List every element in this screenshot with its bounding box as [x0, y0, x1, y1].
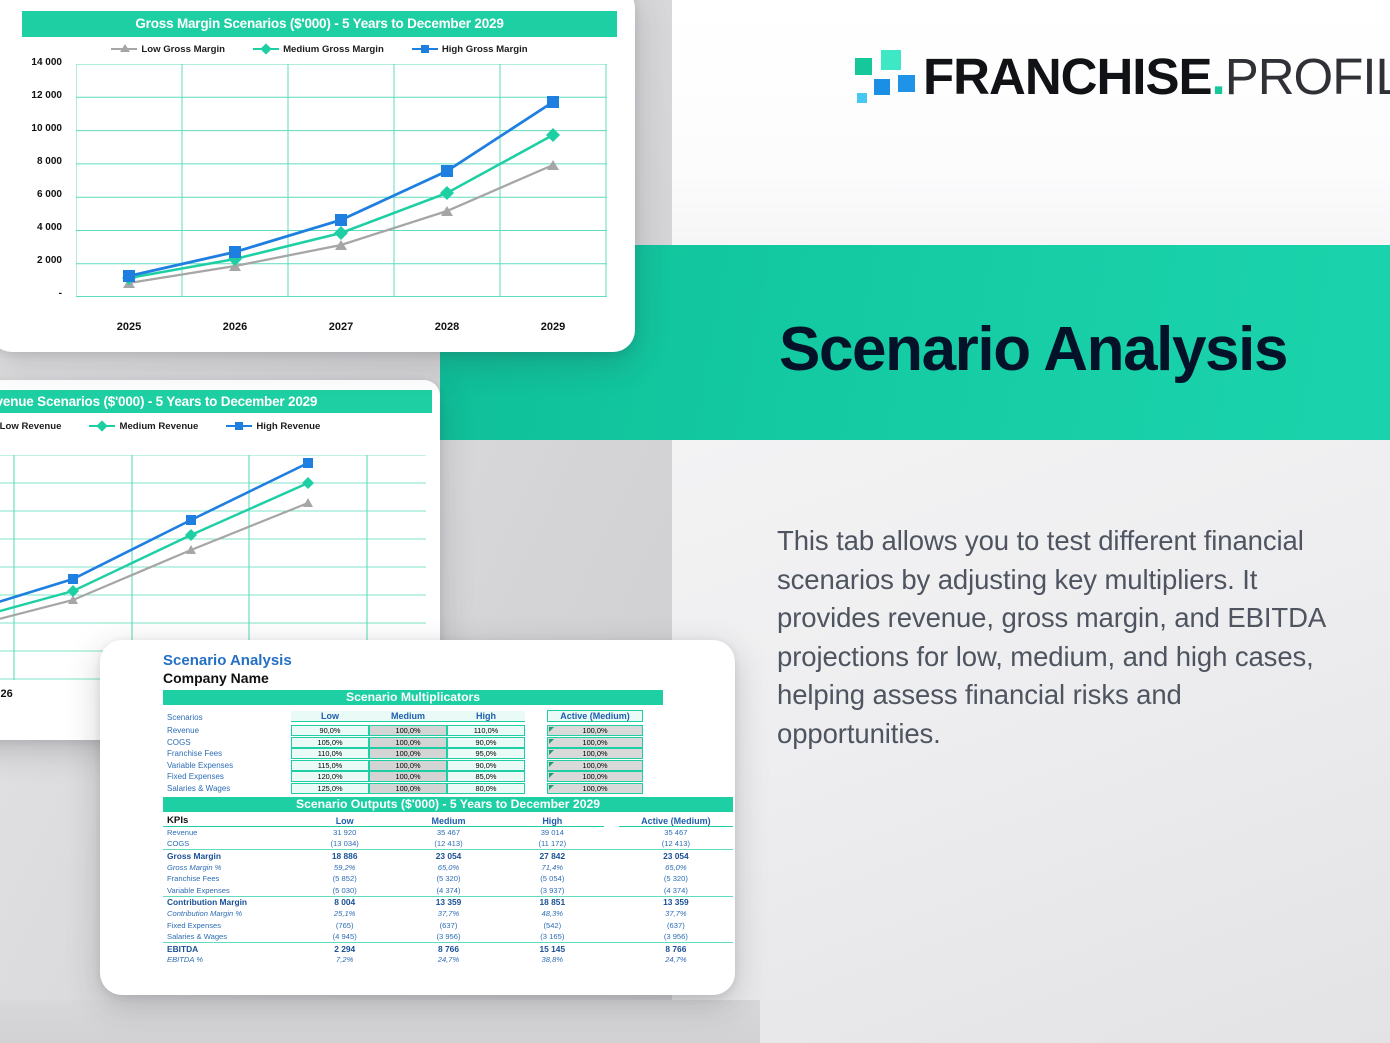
outputs-row-label: Revenue — [163, 827, 293, 839]
gross-margin-chart-plot — [76, 64, 607, 297]
outputs-cell-low: 18 886 — [293, 850, 397, 862]
multiplicator-row-label: Revenue — [163, 726, 291, 735]
table-row: Contribution Margin %25,1%37,7%48,3%37,7… — [163, 908, 733, 920]
logo-dot: . — [1212, 48, 1225, 105]
outputs-cell-medium: 13 359 — [397, 896, 501, 908]
outputs-cell-medium: 35 467 — [397, 827, 501, 839]
multiplicators-col-medium: Medium — [369, 711, 447, 722]
logo-wordmark: FRANCHISE.PROFILES — [923, 44, 1390, 110]
multiplicator-row-label: Variable Expenses — [163, 761, 291, 770]
revenue-xtick-2026: 2026 — [0, 688, 23, 700]
outputs-cell-low: 25,1% — [293, 908, 397, 920]
sheet-subtitle: Company Name — [163, 670, 292, 686]
outputs-cell-active: 65,0% — [619, 861, 733, 873]
multiplicator-row-label: Fixed Expenses — [163, 772, 291, 781]
outputs-row-label: EBITDA % — [163, 954, 293, 966]
outputs-cell-high: 38,8% — [500, 954, 604, 966]
legend-item-high-revenue[interactable]: High Revenue — [226, 421, 320, 432]
medium-revenue-marker-icon — [89, 425, 115, 427]
logo-square-teal-large — [853, 56, 874, 77]
outputs-cell-low: (765) — [293, 919, 397, 931]
outputs-cell-high: 48,3% — [500, 908, 604, 920]
outputs-cell-medium: (5 320) — [397, 873, 501, 885]
multiplicator-cell-medium[interactable]: 100,0% — [369, 760, 447, 771]
outputs-cell-active: 35 467 — [619, 827, 733, 839]
scenario-multiplicators-table: Scenarios Low Medium High Active (Medium… — [163, 707, 663, 794]
legend-item-low-gross-margin[interactable]: Low Gross Margin — [111, 44, 225, 55]
gross-margin-chart-legend: Low Gross Margin Medium Gross Margin Hig… — [22, 40, 617, 58]
outputs-cell-active: (637) — [619, 919, 733, 931]
table-row: EBITDA2 2948 76615 1458 766 — [163, 943, 733, 955]
high-revenue-marker-icon — [226, 425, 252, 427]
outputs-col-high: High — [500, 815, 604, 827]
outputs-cell-low: 31 920 — [293, 827, 397, 839]
outputs-cell-active: (12 413) — [619, 838, 733, 850]
ytick-6000: 6 000 — [0, 189, 62, 200]
legend-label: Low Gross Margin — [141, 44, 225, 55]
table-row: EBITDA %7,2%24,7%38,8%24,7% — [163, 954, 733, 966]
sheet-title: Scenario Analysis — [163, 652, 292, 669]
multiplicator-cell-medium[interactable]: 100,0% — [369, 771, 447, 782]
table-row: Salaries & Wages(4 945)(3 956)(3 165)(3 … — [163, 931, 733, 943]
multiplicator-cell-high[interactable]: 110,0% — [447, 725, 525, 736]
outputs-row-label: Gross Margin % — [163, 861, 293, 873]
multiplicator-row: Franchise Fees110,0%100,0%95,0%100,0% — [163, 748, 663, 760]
legend-item-low-revenue[interactable]: Low Revenue — [0, 421, 61, 432]
multiplicators-col-active: Active (Medium) — [547, 710, 643, 722]
table-row: Contribution Margin8 00413 35918 85113 3… — [163, 896, 733, 908]
outputs-cell-low: (4 945) — [293, 931, 397, 943]
outputs-row-label: EBITDA — [163, 943, 293, 955]
legend-item-medium-revenue[interactable]: Medium Revenue — [89, 421, 198, 432]
legend-label: High Revenue — [256, 421, 320, 432]
scenario-outputs-band: Scenario Outputs ($'000) - 5 Years to De… — [163, 797, 733, 812]
background-white-strip — [672, 0, 1390, 245]
outputs-cell-low: 8 004 — [293, 896, 397, 908]
multiplicators-col-low: Low — [291, 711, 369, 722]
outputs-cell-medium: (637) — [397, 919, 501, 931]
multiplicator-cell-medium[interactable]: 100,0% — [369, 737, 447, 748]
legend-label: High Gross Margin — [442, 44, 528, 55]
outputs-row-label: Contribution Margin — [163, 896, 293, 908]
outputs-cell-active: 23 054 — [619, 850, 733, 862]
gross-xtick-2027: 2027 — [318, 321, 364, 333]
table-row: Gross Margin %59,2%65,0%71,4%65,0% — [163, 861, 733, 873]
low-gross-margin-marker-icon — [111, 48, 137, 50]
outputs-cell-high: 39 014 — [500, 827, 604, 839]
multiplicator-cell-low[interactable]: 125,0% — [291, 783, 369, 794]
multiplicator-row: COGS105,0%100,0%90,0%100,0% — [163, 737, 663, 749]
outputs-cell-medium: (4 374) — [397, 885, 501, 897]
outputs-cell-medium: (3 956) — [397, 931, 501, 943]
table-row: Franchise Fees(5 852)(5 320)(5 054)(5 32… — [163, 873, 733, 885]
hero-description: This tab allows you to test different fi… — [777, 522, 1337, 753]
ytick-10000: 10 000 — [0, 123, 62, 134]
multiplicator-cell-low[interactable]: 90,0% — [291, 725, 369, 736]
outputs-row-label: Fixed Expenses — [163, 919, 293, 931]
table-row: Revenue31 92035 46739 01435 467 — [163, 827, 733, 839]
legend-item-medium-gross-margin[interactable]: Medium Gross Margin — [253, 44, 384, 55]
multiplicator-row: Salaries & Wages125,0%100,0%80,0%100,0% — [163, 783, 663, 795]
legend-label: Low Revenue — [0, 421, 61, 432]
outputs-cell-high: 71,4% — [500, 861, 604, 873]
multiplicator-row: Fixed Expenses120,0%100,0%85,0%100,0% — [163, 771, 663, 783]
outputs-row-label: Contribution Margin % — [163, 908, 293, 920]
outputs-cell-active: 37,7% — [619, 908, 733, 920]
outputs-row-label: COGS — [163, 838, 293, 850]
outputs-col-active: Active (Medium) — [619, 815, 733, 827]
outputs-header-row: KPIs Low Medium High Active (Medium) — [163, 815, 733, 827]
ytick-4000: 4 000 — [0, 222, 62, 233]
outputs-cell-high: (11 172) — [500, 838, 604, 850]
multiplicator-cell-medium[interactable]: 100,0% — [369, 783, 447, 794]
multiplicator-cell-low[interactable]: 110,0% — [291, 748, 369, 759]
gross-xtick-2025: 2025 — [106, 321, 152, 333]
logo-squares-icon — [851, 48, 907, 106]
outputs-col-kpis: KPIs — [163, 815, 293, 827]
outputs-cell-low: 7,2% — [293, 954, 397, 966]
multiplicator-cell-high[interactable]: 85,0% — [447, 771, 525, 782]
multiplicator-row-label: COGS — [163, 738, 291, 747]
outputs-cell-low: 59,2% — [293, 861, 397, 873]
logo-square-blue-mid — [872, 77, 892, 97]
gross-margin-chart-title: Gross Margin Scenarios ($'000) - 5 Years… — [22, 11, 617, 37]
outputs-col-low: Low — [293, 815, 397, 827]
multiplicator-cell-high[interactable]: 90,0% — [447, 737, 525, 748]
outputs-cell-high: 18 851 — [500, 896, 604, 908]
outputs-cell-low: (5 030) — [293, 885, 397, 897]
scenario-analysis-sheet-card: Scenario Analysis Company Name Go to the… — [100, 640, 735, 995]
scenario-outputs-table: KPIs Low Medium High Active (Medium) Rev… — [163, 815, 733, 966]
multiplicator-cell-medium[interactable]: 100,0% — [369, 748, 447, 759]
outputs-cell-medium: 65,0% — [397, 861, 501, 873]
logo-square-cyan-small — [855, 91, 869, 105]
gross-xtick-2026: 2026 — [212, 321, 258, 333]
outputs-cell-high: 15 145 — [500, 943, 604, 955]
ytick-2000: 2 000 — [0, 255, 62, 266]
outputs-cell-medium: (12 413) — [397, 838, 501, 850]
outputs-row-label: Gross Margin — [163, 850, 293, 862]
ytick-14000: 14 000 — [0, 57, 62, 68]
logo-square-blue-right — [896, 73, 917, 94]
outputs-cell-medium: 8 766 — [397, 943, 501, 955]
outputs-cell-high: 27 842 — [500, 850, 604, 862]
legend-label: Medium Gross Margin — [283, 44, 384, 55]
multiplicator-row-label: Salaries & Wages — [163, 784, 291, 793]
outputs-cell-low: (5 852) — [293, 873, 397, 885]
medium-gross-margin-marker-icon — [253, 48, 279, 50]
outputs-row-label: Franchise Fees — [163, 873, 293, 885]
multiplicator-cell-active[interactable]: 100,0% — [547, 748, 643, 759]
gross-margin-chart-card: Gross Margin Scenarios ($'000) - 5 Years… — [0, 0, 635, 352]
multiplicator-row: Variable Expenses115,0%100,0%90,0%100,0% — [163, 760, 663, 772]
scenario-multiplicators-band: Scenario Multiplicators — [163, 690, 663, 705]
logo-square-mint — [879, 48, 903, 72]
outputs-cell-high: (5 054) — [500, 873, 604, 885]
outputs-cell-medium: 37,7% — [397, 908, 501, 920]
multiplicator-cell-low[interactable]: 105,0% — [291, 737, 369, 748]
outputs-cell-low: 2 294 — [293, 943, 397, 955]
table-row: Variable Expenses(5 030)(4 374)(3 937)(4… — [163, 885, 733, 897]
multiplicator-cell-active[interactable]: 100,0% — [547, 783, 643, 794]
multiplicator-cell-active[interactable]: 100,0% — [547, 737, 643, 748]
multiplicator-cell-medium[interactable]: 100,0% — [369, 725, 447, 736]
multiplicator-cell-active[interactable]: 100,0% — [547, 760, 643, 771]
outputs-cell-medium: 23 054 — [397, 850, 501, 862]
multiplicator-cell-high[interactable]: 80,0% — [447, 783, 525, 794]
outputs-cell-active: 24,7% — [619, 954, 733, 966]
gross-xtick-2029: 2029 — [530, 321, 576, 333]
outputs-cell-high: (542) — [500, 919, 604, 931]
outputs-row-label: Salaries & Wages — [163, 931, 293, 943]
outputs-cell-active: (3 956) — [619, 931, 733, 943]
gross-xtick-2028: 2028 — [424, 321, 470, 333]
revenue-chart-title: Revenue Scenarios ($'000) - 5 Years to D… — [0, 390, 432, 413]
outputs-cell-active: (5 320) — [619, 873, 733, 885]
ytick-zero: - — [0, 288, 62, 299]
outputs-cell-active: (4 374) — [619, 885, 733, 897]
outputs-cell-active: 13 359 — [619, 896, 733, 908]
legend-label: Medium Revenue — [119, 421, 198, 432]
ytick-12000: 12 000 — [0, 90, 62, 101]
multiplicators-row-header: Scenarios — [163, 713, 291, 722]
outputs-row-list: Revenue31 92035 46739 01435 467COGS(13 0… — [163, 827, 733, 966]
table-row: COGS(13 034)(12 413)(11 172)(12 413) — [163, 838, 733, 850]
outputs-row-label: Variable Expenses — [163, 885, 293, 897]
multiplicator-cell-active[interactable]: 100,0% — [547, 771, 643, 782]
outputs-cell-medium: 24,7% — [397, 954, 501, 966]
outputs-cell-active: 8 766 — [619, 943, 733, 955]
legend-item-high-gross-margin[interactable]: High Gross Margin — [412, 44, 528, 55]
multiplicators-row-list: Revenue90,0%100,0%110,0%100,0%COGS105,0%… — [163, 725, 663, 794]
revenue-chart-legend: Low Revenue Medium Revenue High Revenue — [0, 418, 428, 434]
multiplicator-cell-low[interactable]: 120,0% — [291, 771, 369, 782]
multiplicator-cell-high[interactable]: 90,0% — [447, 760, 525, 771]
multiplicator-cell-high[interactable]: 95,0% — [447, 748, 525, 759]
table-row: Gross Margin18 88623 05427 84223 054 — [163, 850, 733, 862]
multiplicator-cell-active[interactable]: 100,0% — [547, 725, 643, 736]
outputs-cell-low: (13 034) — [293, 838, 397, 850]
ytick-8000: 8 000 — [0, 156, 62, 167]
page-title: Scenario Analysis — [779, 305, 1379, 395]
multiplicators-col-high: High — [447, 711, 525, 722]
outputs-cell-high: (3 937) — [500, 885, 604, 897]
logo-word-franchise: FRANCHISE — [923, 48, 1212, 105]
background-lower-left-band — [0, 1000, 760, 1043]
outputs-cell-high: (3 165) — [500, 931, 604, 943]
brand-logo: FRANCHISE.PROFILES — [851, 48, 1351, 108]
multiplicator-row: Revenue90,0%100,0%110,0%100,0% — [163, 725, 663, 737]
multiplicator-cell-low[interactable]: 115,0% — [291, 760, 369, 771]
outputs-col-medium: Medium — [397, 815, 501, 827]
high-gross-margin-marker-icon — [412, 48, 438, 50]
table-row: Fixed Expenses(765)(637)(542)(637) — [163, 919, 733, 931]
multiplicator-row-label: Franchise Fees — [163, 749, 291, 758]
logo-word-profiles: PROFILES — [1225, 48, 1390, 105]
